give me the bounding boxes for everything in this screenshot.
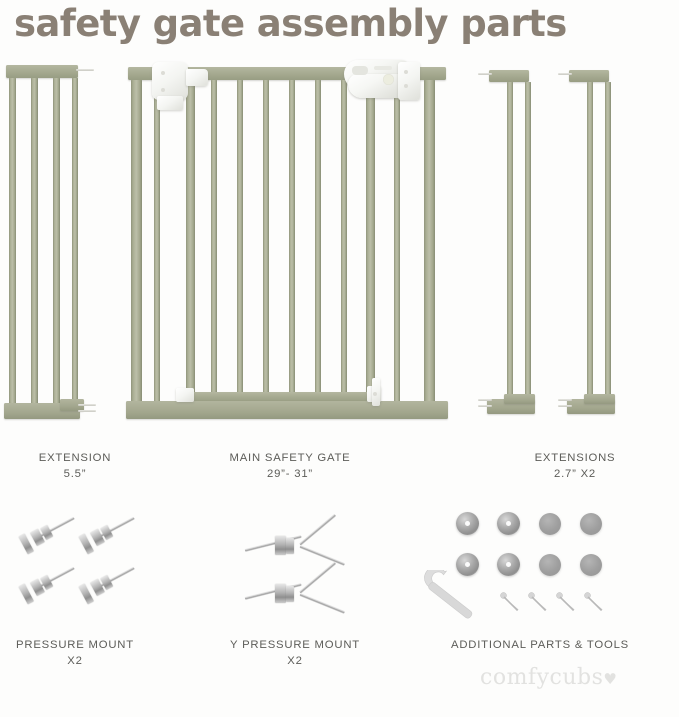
wrench-icon xyxy=(424,570,498,622)
wall-cup-icon xyxy=(456,512,479,535)
caption-main-safety-gate: MAIN SAFETY GATE 29”- 31” xyxy=(155,450,425,482)
page-title: safety gate assembly parts xyxy=(14,2,567,45)
label-extension-left-name: EXTENSION xyxy=(39,452,111,464)
screw-icon xyxy=(584,592,606,614)
label-extensions-right-name: EXTENSIONS xyxy=(535,452,616,464)
label-pressure-mount-size: X2 xyxy=(0,653,150,669)
wall-cup-icon xyxy=(497,512,520,535)
gate-hinge-bracket-bottom-icon xyxy=(176,388,194,402)
screw-icon xyxy=(500,592,522,614)
rubber-pad-icon xyxy=(580,554,602,576)
caption-additional-parts-tools: ADDITIONAL PARTS & TOOLS xyxy=(410,637,670,653)
caption-extension-left: EXTENSION 5.5” xyxy=(0,450,150,482)
screw-icon xyxy=(556,592,578,614)
label-main-gate-name: MAIN SAFETY GATE xyxy=(230,452,351,464)
product-parts-infographic: safety gate assembly parts EXTENSION 5.5… xyxy=(0,0,679,717)
label-additional-parts-name: ADDITIONAL PARTS & TOOLS xyxy=(451,639,629,651)
label-extension-left-size: 5.5” xyxy=(0,466,150,482)
caption-pressure-mount: PRESSURE MOUNT X2 xyxy=(0,637,150,669)
rubber-pad-icon xyxy=(539,554,561,576)
label-y-pressure-mount-size: X2 xyxy=(200,653,390,669)
brand-heart-icon: ♥ xyxy=(603,670,617,688)
rubber-pad-icon xyxy=(580,513,602,535)
rubber-pad-icon xyxy=(539,513,561,535)
caption-extensions-right: EXTENSIONS 2.7” X2 xyxy=(475,450,675,482)
label-main-gate-size: 29”- 31” xyxy=(155,466,425,482)
gate-hinge-bracket-top-icon xyxy=(152,62,188,100)
label-y-pressure-mount-name: Y PRESSURE MOUNT xyxy=(230,639,360,651)
caption-y-pressure-mount: Y PRESSURE MOUNT X2 xyxy=(200,637,390,669)
brand-name: comfycubs xyxy=(480,665,603,690)
wall-cup-icon xyxy=(497,553,520,576)
label-extensions-right-size: 2.7” X2 xyxy=(475,466,675,482)
label-pressure-mount-name: PRESSURE MOUNT xyxy=(16,639,134,651)
brand-watermark: comfycubs♥ xyxy=(480,665,617,690)
screw-icon xyxy=(528,592,550,614)
